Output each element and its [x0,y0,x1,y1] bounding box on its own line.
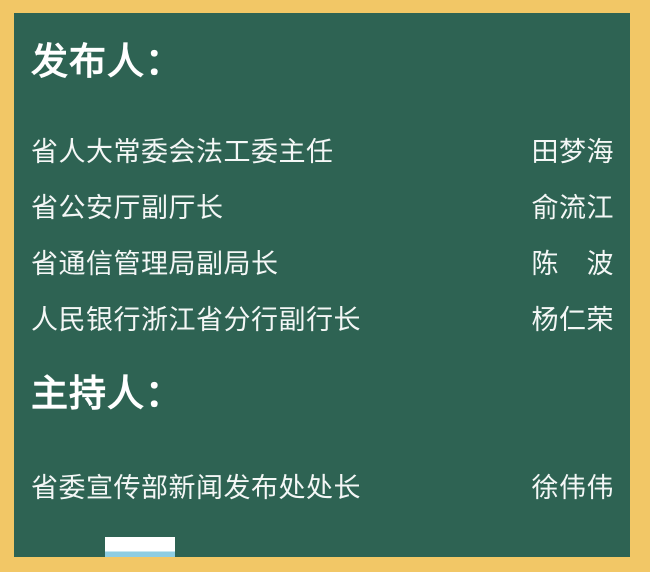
press-conference-slide: 发布人： 省人大常委会法工委主任 田梦海 省公安厅副厅长 俞流江 省通信管理局副… [0,0,650,572]
publisher-name: 田梦海 [532,139,615,166]
publisher-title: 省公安厅副厅长 [31,195,224,222]
publisher-row: 人民银行浙江省分行副行长 杨仁荣 [31,300,614,340]
publisher-row: 省通信管理局副局长 陈 波 [31,244,614,284]
host-title: 省委宣传部新闻发布处处长 [31,475,361,502]
host-row: 省委宣传部新闻发布处处长 徐伟伟 [31,468,614,508]
publisher-row: 省公安厅副厅长 俞流江 [31,188,614,228]
publisher-title: 省通信管理局副局长 [31,251,279,278]
host-name: 徐伟伟 [532,475,615,502]
publisher-name: 陈 波 [532,251,615,278]
slide-content-panel: 发布人： 省人大常委会法工委主任 田梦海 省公安厅副厅长 俞流江 省通信管理局副… [14,13,630,557]
publisher-name: 俞流江 [532,195,615,222]
publisher-name: 杨仁荣 [532,307,615,334]
bottom-decoration-mark [105,537,175,557]
publisher-title: 省人大常委会法工委主任 [31,139,334,166]
section-heading-host: 主持人： [31,375,183,412]
section-heading-publishers: 发布人： [31,43,183,80]
publisher-title: 人民银行浙江省分行副行长 [31,307,361,334]
publisher-row: 省人大常委会法工委主任 田梦海 [31,132,614,172]
